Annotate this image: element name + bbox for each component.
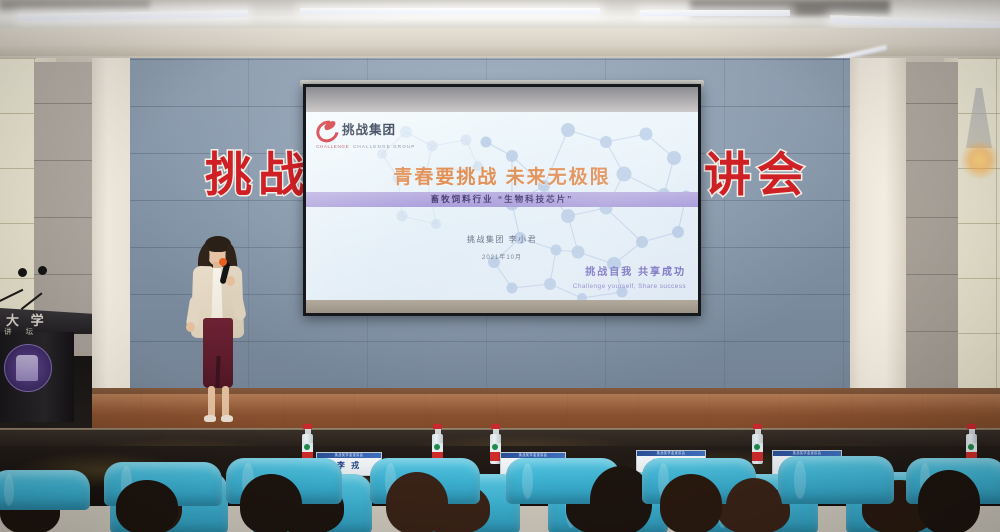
slide-title: 青春要挑战 未来无极限 [306, 162, 698, 189]
audience-head-front-6 [726, 478, 782, 532]
slide-slogan-cn: 挑战自我 共享成功 [585, 263, 686, 278]
audience-head-front-1 [116, 480, 178, 532]
presenter-leg-left [208, 386, 215, 418]
projector-screen-bottom-bar [306, 300, 698, 313]
microphone-head-2 [38, 266, 47, 275]
bottle-label-mark [968, 444, 974, 450]
presenter-shoe-right [221, 415, 233, 422]
presenter-hand-left [186, 322, 195, 332]
presenter-leg-right [222, 386, 229, 418]
slide-slogan-en: Challenge yourself, Share success [573, 283, 686, 290]
audience-head-front-7 [918, 470, 980, 532]
bottle-label-mark [492, 444, 498, 450]
wall-right-acoustic-panels [900, 62, 962, 388]
bottle-label-mark [754, 444, 760, 450]
bottle-label-mark [434, 444, 440, 450]
ceiling-shadow-patch-left [0, 0, 150, 10]
presenter-shoe-left [204, 415, 216, 422]
strip-light-3 [640, 10, 790, 16]
slide-logo-en-right: CHALLENGE GROUP [353, 135, 415, 153]
university-crest-inner [16, 355, 38, 381]
auditorium-photo: 挑战奖 宣讲会 [0, 0, 1000, 532]
slide-presenter: 挑战集团 李小君 [306, 234, 698, 245]
chair-front-6 [778, 456, 894, 504]
bottle-label-mark [304, 444, 310, 450]
water-bottle-4 [752, 424, 763, 464]
wall-sconce-glow [960, 140, 1000, 180]
presenter-hand-right [226, 276, 235, 286]
chair-front-8 [0, 470, 90, 510]
slide-date: 2021年10月 [306, 252, 698, 261]
slide-logo-en-text: CHALLENGE GROUP [353, 144, 415, 149]
bottle-body [752, 434, 763, 464]
projector-screen-top-band [306, 87, 698, 113]
lectern-text-line2: 讲 坛 [4, 326, 39, 337]
presentation-slide[interactable]: 挑战集团 CHALLENGE CHALLENGE GROUP 青春要挑战 未来无… [306, 112, 698, 301]
audience-head-front-3 [386, 472, 448, 532]
challenge-logo-icon [316, 121, 337, 136]
bottle-label-red [752, 452, 763, 461]
handheld-microphone-windscreen [219, 258, 227, 266]
strip-light-2 [300, 8, 600, 14]
microphone-head-1 [18, 268, 27, 277]
audience-head-front-2 [240, 474, 302, 532]
slide-logo-en-mark: CHALLENGE [316, 144, 349, 149]
slide-logo-en-left: CHALLENGE [316, 135, 349, 153]
slide-subtitle: 畜牧饲料行业 “生物科技芯片” [306, 193, 698, 205]
audience-head-front-5 [660, 474, 722, 532]
